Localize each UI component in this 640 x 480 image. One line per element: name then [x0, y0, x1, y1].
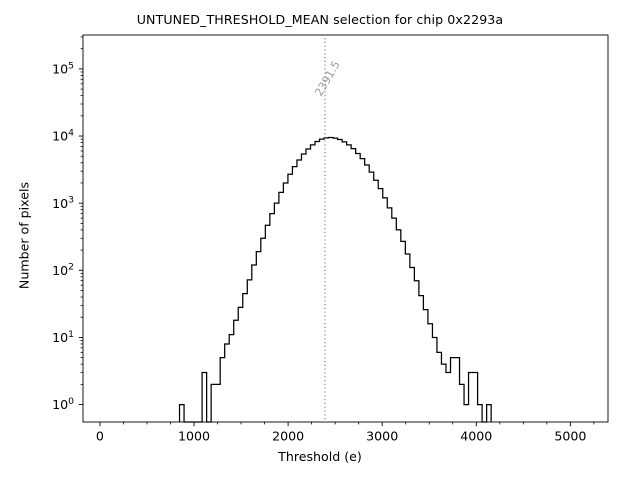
- vline-annotation-label: 2391.5: [312, 59, 343, 99]
- y-axis-label: Number of pixels: [17, 116, 32, 356]
- y-tick-label: 100: [52, 396, 74, 412]
- y-tick-label: 104: [52, 127, 74, 143]
- y-tick-label: 102: [52, 262, 74, 278]
- y-tick-label: 105: [52, 60, 74, 76]
- y-tick-label: 101: [52, 329, 74, 345]
- x-tick-label: 3000: [366, 429, 398, 444]
- x-tick-label: 5000: [554, 429, 586, 444]
- x-tick-label: 2000: [272, 429, 304, 444]
- x-tick-label: 4000: [460, 429, 492, 444]
- histogram-step-line: [180, 138, 492, 422]
- matplotlib-figure: UNTUNED_THRESHOLD_MEAN selection for chi…: [0, 0, 640, 480]
- y-tick-label: 103: [52, 195, 74, 211]
- x-axis-label: Threshold (e): [0, 449, 640, 464]
- x-tick-label: 0: [96, 429, 104, 444]
- axes-frame: [83, 35, 608, 422]
- plot-area-svg: 0100020003000400050001001011021031041052…: [0, 0, 640, 480]
- x-tick-label: 1000: [178, 429, 210, 444]
